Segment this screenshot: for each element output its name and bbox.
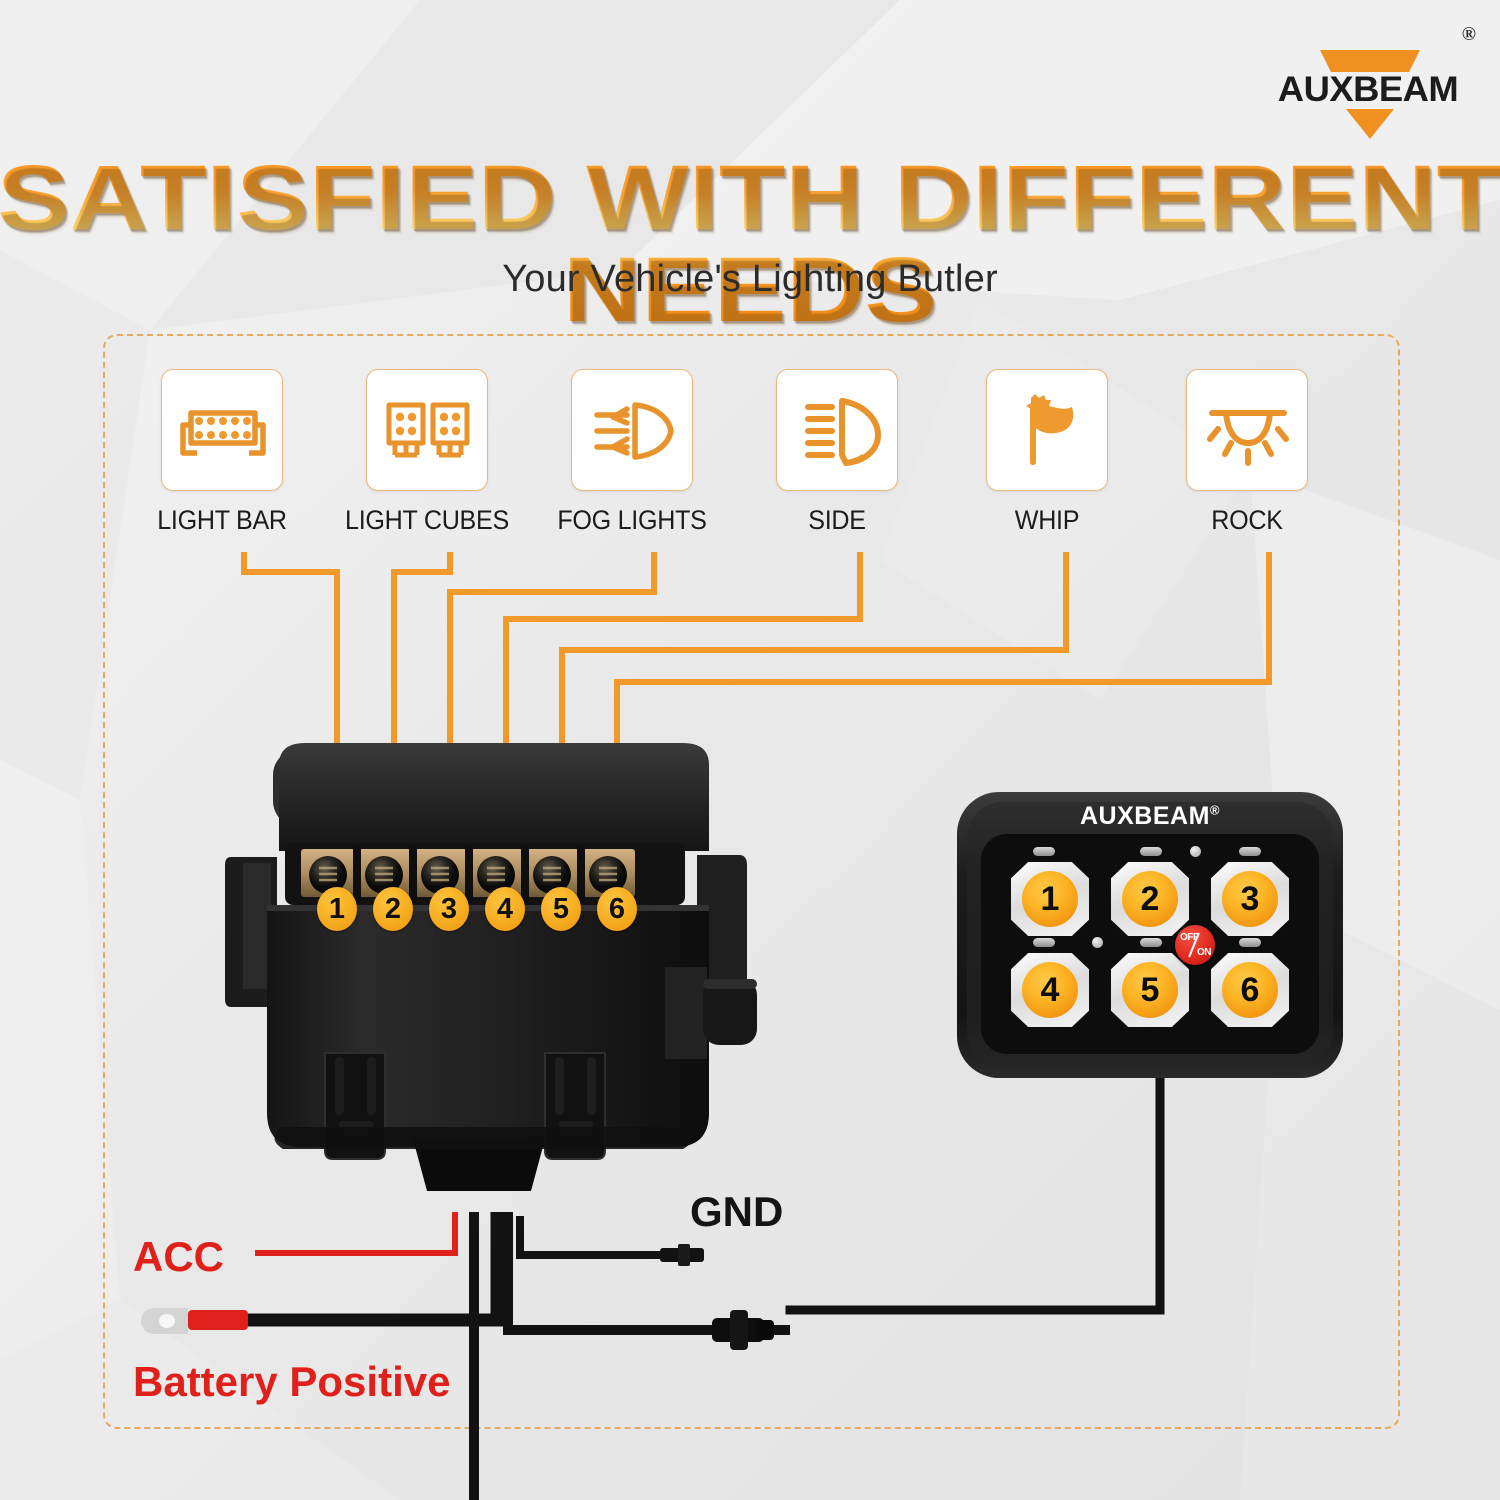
switch-button-4[interactable]: 4 <box>1011 953 1089 1027</box>
switch-panel[interactable]: AUXBEAM® 1 2 3 4 5 6 OFF ON <box>955 790 1345 1080</box>
switch-button-6[interactable]: 6 <box>1211 953 1289 1027</box>
gnd-ring-terminal <box>660 1240 718 1272</box>
switch-button-3[interactable]: 3 <box>1211 862 1289 936</box>
page-subtitle: Your Vehicle's Lighting Butler <box>0 258 1500 301</box>
led-indicator-4 <box>1033 938 1055 947</box>
led-dot-middle <box>1092 937 1103 948</box>
battery-ring-terminal <box>141 1308 248 1334</box>
power-on-label: ON <box>1197 947 1211 958</box>
control-box-body <box>225 735 765 1235</box>
whip-light-icon <box>998 381 1098 481</box>
terminal-badge-6: 6 <box>597 887 637 931</box>
logo-trapezoid-icon <box>1320 50 1420 72</box>
led-indicator-2 <box>1140 847 1162 856</box>
page-title-text: SATISFIED WITH DIFFERENT NEEDS <box>0 152 1500 336</box>
light-type-card-light-bar[interactable] <box>161 369 283 491</box>
panel-cable <box>790 1080 1160 1310</box>
gnd-label: GND <box>690 1188 783 1236</box>
page-title: SATISFIED WITH DIFFERENT NEEDS <box>0 152 1500 336</box>
switch-button-6-label: 6 <box>1222 962 1278 1018</box>
led-indicator-5 <box>1140 938 1162 947</box>
light-type-card-fog-lights[interactable] <box>571 369 693 491</box>
logo-wordmark: AUXBEAM <box>1254 70 1483 110</box>
terminal-badge-3: 3 <box>429 887 469 931</box>
switch-button-4-label: 4 <box>1022 962 1078 1018</box>
light-cubes-icon <box>378 381 478 481</box>
led-indicator-6 <box>1239 938 1261 947</box>
auxbeam-logo: AUXBEAM ® <box>1258 22 1478 134</box>
rock-light-icon <box>1198 381 1298 481</box>
registered-mark: ® <box>1462 24 1476 46</box>
light-type-card-whip[interactable] <box>986 369 1108 491</box>
control-box[interactable]: 1 2 3 4 5 6 <box>225 735 765 1235</box>
light-bar-icon <box>173 381 273 481</box>
led-indicator-3 <box>1239 847 1261 856</box>
switch-button-1[interactable]: 1 <box>1011 862 1089 936</box>
terminal-badge-2: 2 <box>373 887 413 931</box>
switch-button-2-label: 2 <box>1122 871 1178 927</box>
terminal-badge-1: 1 <box>317 887 357 931</box>
light-type-label-side: SIDE <box>735 505 940 536</box>
battery-label: Battery Positive <box>133 1358 450 1406</box>
fog-lights-icon <box>583 381 683 481</box>
light-type-label-light-bar: LIGHT BAR <box>120 505 325 536</box>
power-off-on-button[interactable]: OFF ON <box>1175 925 1215 965</box>
led-dot-top <box>1190 846 1201 857</box>
light-type-label-rock: ROCK <box>1145 505 1350 536</box>
terminal-badge-4: 4 <box>485 887 525 931</box>
switch-button-5-label: 5 <box>1122 962 1178 1018</box>
terminal-badge-5: 5 <box>541 887 581 931</box>
light-type-label-whip: WHIP <box>945 505 1150 536</box>
registered-mark-panel: ® <box>1210 803 1220 818</box>
light-type-card-side[interactable] <box>776 369 898 491</box>
side-light-icon <box>788 381 888 481</box>
light-type-label-fog-lights: FOG LIGHTS <box>530 505 735 536</box>
inline-connector <box>712 1310 774 1350</box>
switch-button-3-label: 3 <box>1222 871 1278 927</box>
switch-button-2[interactable]: 2 <box>1111 862 1189 936</box>
led-indicator-1 <box>1033 847 1055 856</box>
switch-button-1-label: 1 <box>1022 871 1078 927</box>
switch-button-5[interactable]: 5 <box>1111 953 1189 1027</box>
switch-panel-brand: AUXBEAM® <box>955 802 1345 831</box>
light-type-label-light-cubes: LIGHT CUBES <box>325 505 530 536</box>
acc-label: ACC <box>133 1233 224 1281</box>
light-type-card-light-cubes[interactable] <box>366 369 488 491</box>
light-type-card-rock[interactable] <box>1186 369 1308 491</box>
